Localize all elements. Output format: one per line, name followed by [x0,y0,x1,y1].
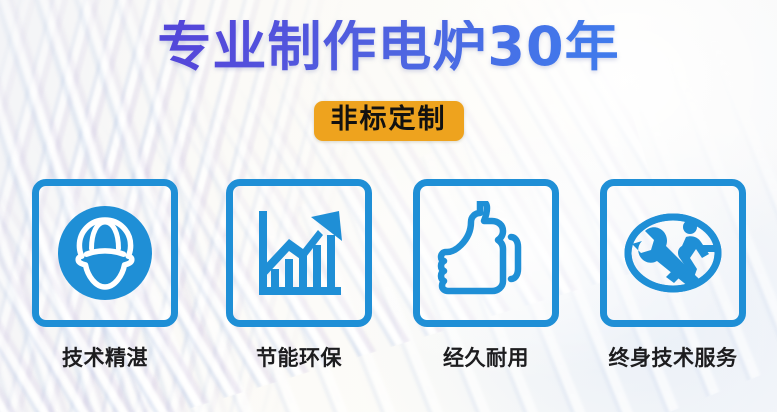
badge-container: 非标定制 [0,101,777,141]
feature-label: 节能环保 [226,342,372,372]
feature-icon-box [32,179,178,327]
promo-banner: 专业制作电炉30年 非标定制 技术精湛 [0,0,777,412]
feature-item[interactable]: 技术精湛 [32,179,178,372]
feature-item[interactable]: 经久耐用 [413,179,559,372]
safety-helmet-icon [53,201,157,305]
thumbs-up-icon [434,201,538,305]
feature-label: 技术精湛 [32,342,178,372]
feature-icon-box [600,179,746,327]
feature-item[interactable]: 节能环保 [226,179,372,372]
wrench-service-icon [620,201,726,305]
feature-icon-box [226,179,372,327]
custom-order-badge: 非标定制 [314,101,464,141]
feature-label: 终身技术服务 [600,342,746,372]
banner-title: 专业制作电炉30年 [0,20,777,74]
feature-label: 经久耐用 [413,342,559,372]
growth-chart-icon [247,201,351,305]
feature-icon-box [413,179,559,327]
feature-list: 技术精湛 [0,179,777,379]
feature-item[interactable]: 终身技术服务 [600,179,746,372]
